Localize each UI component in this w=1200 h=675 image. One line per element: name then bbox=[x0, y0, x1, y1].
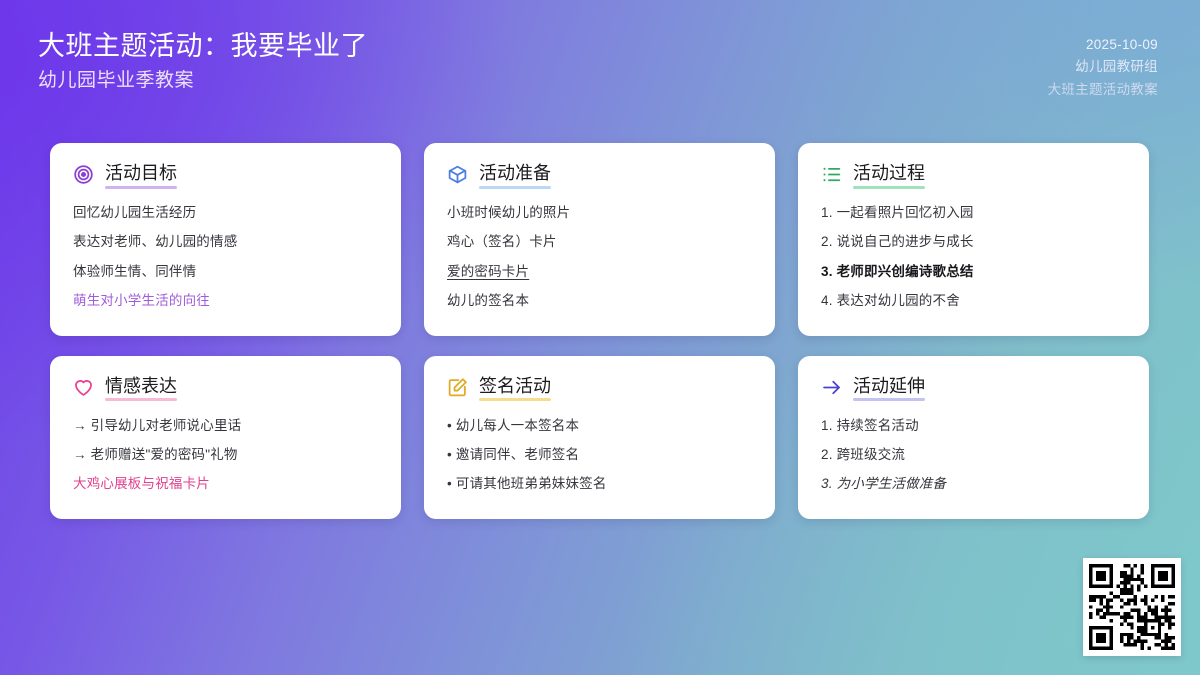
card-header: 情感表达 bbox=[73, 376, 379, 400]
card-item: 小班时候幼儿的照片 bbox=[447, 199, 753, 228]
card-title: 活动延伸 bbox=[853, 376, 925, 400]
card-header: 签名活动 bbox=[447, 376, 753, 400]
card-body: 回忆幼儿园生活经历表达对老师、幼儿园的情感体验师生情、同伴情萌生对小学生活的向往 bbox=[73, 199, 379, 316]
page-subtitle: 幼儿园毕业季教案 bbox=[38, 67, 368, 96]
page-title: 大班主题活动：我要毕业了 bbox=[38, 30, 368, 64]
card-item: • 可请其他班弟弟妹妹签名 bbox=[447, 470, 753, 499]
qr-code-image bbox=[1089, 564, 1175, 650]
meta-doc-type: 大班主题活动教案 bbox=[1048, 79, 1158, 101]
card-item: 鸡心（签名）卡片 bbox=[447, 228, 753, 257]
title-block: 大班主题活动：我要毕业了 幼儿园毕业季教案 bbox=[38, 30, 368, 95]
qr-code[interactable] bbox=[1083, 558, 1181, 656]
card-item: 3. 为小学生活做准备 bbox=[821, 470, 1127, 499]
card-body: 小班时候幼儿的照片鸡心（签名）卡片爱的密码卡片幼儿的签名本 bbox=[447, 199, 753, 316]
card-title: 活动目标 bbox=[105, 163, 177, 187]
card-item: 表达对老师、幼儿园的情感 bbox=[73, 228, 379, 257]
edit-square-icon bbox=[447, 377, 468, 398]
meta-date: 2025-10-09 bbox=[1086, 34, 1158, 56]
card-item: 爱的密码卡片 bbox=[447, 257, 753, 286]
card-item: 大鸡心展板与祝福卡片 bbox=[73, 470, 379, 499]
card-6: 活动延伸1. 持续签名活动2. 跨班级交流3. 为小学生活做准备 bbox=[798, 356, 1149, 519]
card-item: → 老师赠送"爱的密码"礼物 bbox=[73, 440, 379, 469]
card-item: 2. 说说自己的进步与成长 bbox=[821, 228, 1127, 257]
meta-org: 幼儿园教研组 bbox=[1075, 56, 1158, 78]
card-item: 萌生对小学生活的向往 bbox=[73, 286, 379, 315]
card-body: → 引导幼儿对老师说心里话→ 老师赠送"爱的密码"礼物大鸡心展板与祝福卡片 bbox=[73, 411, 379, 499]
card-header: 活动过程 bbox=[821, 163, 1127, 187]
card-item: • 幼儿每人一本签名本 bbox=[447, 411, 753, 440]
card-item: 2. 跨班级交流 bbox=[821, 440, 1127, 469]
card-item: 体验师生情、同伴情 bbox=[73, 257, 379, 286]
card-title: 活动过程 bbox=[853, 163, 925, 187]
slide-header: 大班主题活动：我要毕业了 幼儿园毕业季教案 2025-10-09 幼儿园教研组 … bbox=[0, 0, 1200, 125]
card-item: 幼儿的签名本 bbox=[447, 286, 753, 315]
card-1: 活动目标回忆幼儿园生活经历表达对老师、幼儿园的情感体验师生情、同伴情萌生对小学生… bbox=[50, 143, 401, 336]
target-icon bbox=[73, 164, 94, 185]
card-item: → 引导幼儿对老师说心里话 bbox=[73, 411, 379, 440]
card-header: 活动延伸 bbox=[821, 376, 1127, 400]
card-item: 3. 老师即兴创编诗歌总结 bbox=[821, 257, 1127, 286]
card-body: 1. 一起看照片回忆初入园2. 说说自己的进步与成长3. 老师即兴创编诗歌总结4… bbox=[821, 199, 1127, 316]
card-2: 活动准备小班时候幼儿的照片鸡心（签名）卡片爱的密码卡片幼儿的签名本 bbox=[424, 143, 775, 336]
list-icon bbox=[821, 164, 842, 185]
card-body: 1. 持续签名活动2. 跨班级交流3. 为小学生活做准备 bbox=[821, 411, 1127, 499]
card-item: • 邀请同伴、老师签名 bbox=[447, 440, 753, 469]
arrow-right-icon bbox=[821, 377, 842, 398]
package-icon bbox=[447, 164, 468, 185]
card-title: 活动准备 bbox=[479, 163, 551, 187]
header-meta: 2025-10-09 幼儿园教研组 大班主题活动教案 bbox=[1048, 30, 1158, 101]
card-item: 1. 持续签名活动 bbox=[821, 411, 1127, 440]
card-4: 情感表达→ 引导幼儿对老师说心里话→ 老师赠送"爱的密码"礼物大鸡心展板与祝福卡… bbox=[50, 356, 401, 519]
card-title: 签名活动 bbox=[479, 376, 551, 400]
card-3: 活动过程1. 一起看照片回忆初入园2. 说说自己的进步与成长3. 老师即兴创编诗… bbox=[798, 143, 1149, 336]
card-title: 情感表达 bbox=[105, 376, 177, 400]
card-header: 活动准备 bbox=[447, 163, 753, 187]
slide-root: 大班主题活动：我要毕业了 幼儿园毕业季教案 2025-10-09 幼儿园教研组 … bbox=[0, 0, 1200, 675]
card-body: • 幼儿每人一本签名本• 邀请同伴、老师签名• 可请其他班弟弟妹妹签名 bbox=[447, 411, 753, 499]
card-5: 签名活动• 幼儿每人一本签名本• 邀请同伴、老师签名• 可请其他班弟弟妹妹签名 bbox=[424, 356, 775, 519]
heart-icon bbox=[73, 377, 94, 398]
card-item: 1. 一起看照片回忆初入园 bbox=[821, 199, 1127, 228]
card-item: 回忆幼儿园生活经历 bbox=[73, 199, 379, 228]
card-grid: 活动目标回忆幼儿园生活经历表达对老师、幼儿园的情感体验师生情、同伴情萌生对小学生… bbox=[50, 143, 1150, 519]
card-header: 活动目标 bbox=[73, 163, 379, 187]
card-item: 4. 表达对幼儿园的不舍 bbox=[821, 286, 1127, 315]
